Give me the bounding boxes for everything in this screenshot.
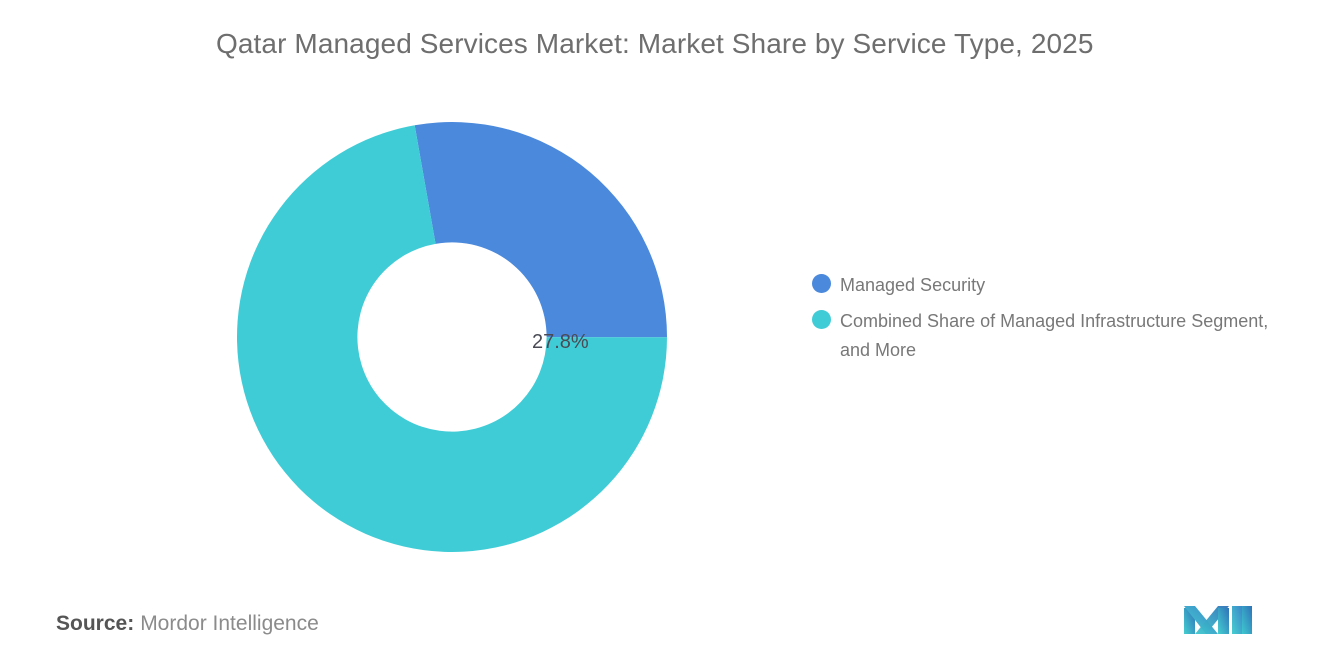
donut-chart-svg [237, 122, 667, 552]
mordor-intelligence-logo-icon [1182, 596, 1254, 636]
legend-item-label: Combined Share of Managed Infrastructure… [840, 307, 1285, 365]
legend-item-combined-share[interactable]: Combined Share of Managed Infrastructure… [812, 307, 1292, 365]
source-value: Mordor Intelligence [140, 612, 319, 635]
donut-slice-managed-security[interactable] [415, 122, 667, 337]
source-label: Source: [56, 612, 134, 635]
legend-color-swatch-icon [812, 310, 831, 329]
donut-chart: 27.8% [237, 122, 667, 552]
chart-container: Qatar Managed Services Market: Market Sh… [0, 0, 1320, 665]
legend-item-managed-security[interactable]: Managed Security [812, 271, 1292, 300]
chart-legend: Managed Security Combined Share of Manag… [812, 271, 1292, 372]
legend-color-swatch-icon [812, 274, 831, 293]
legend-item-label: Managed Security [840, 271, 985, 300]
donut-slice-label-managed-security: 27.8% [532, 331, 589, 354]
logo-svg [1182, 596, 1254, 636]
chart-title: Qatar Managed Services Market: Market Sh… [216, 28, 1216, 60]
source-line: Source:Mordor Intelligence [56, 612, 319, 636]
